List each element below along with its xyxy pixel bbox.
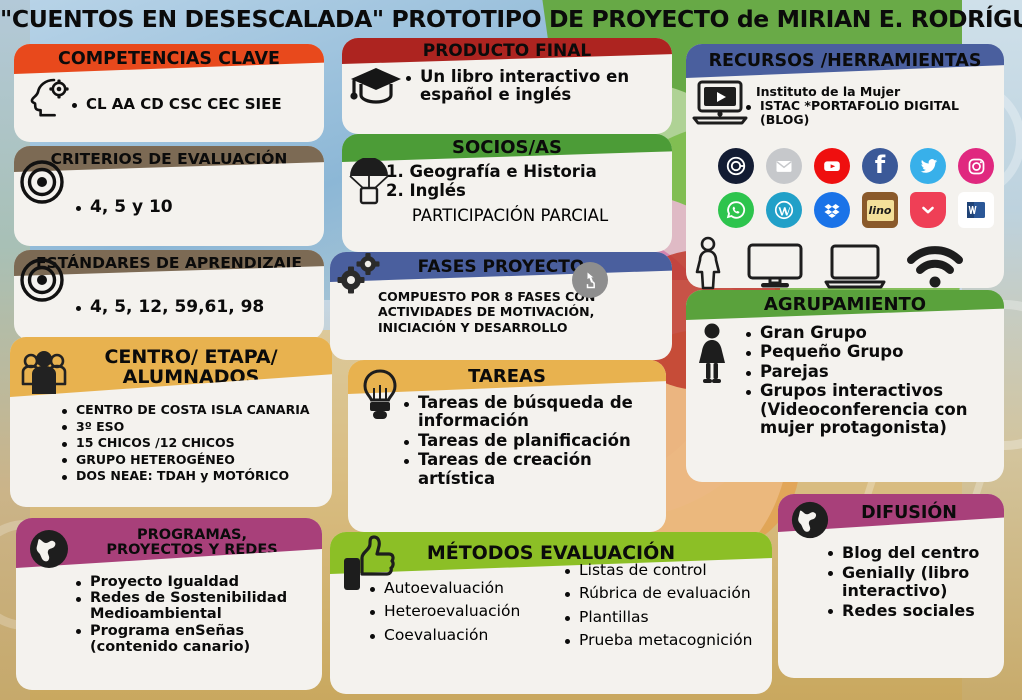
parachute-icon — [346, 158, 392, 208]
list-item: Tareas de planificación — [402, 432, 656, 450]
card-programas-body: Proyecto Igualdad Redes de Sostenibilida… — [16, 568, 322, 661]
card-programas-heading-line2: PROYECTOS Y REDES — [106, 543, 277, 558]
card-centro-heading-line2: ALUMNADOS — [123, 367, 260, 387]
monitor-icon — [746, 242, 804, 290]
list-item: Heteroevaluación — [368, 603, 563, 620]
list-item: 4, 5, 12, 59,61, 98 — [74, 298, 314, 317]
person-icon — [690, 236, 726, 290]
device-icon-row — [690, 236, 964, 290]
pocket-icon[interactable] — [910, 192, 946, 228]
head-gear-icon — [24, 72, 72, 120]
target-icon — [20, 160, 64, 204]
facebook-icon[interactable]: f — [862, 148, 898, 184]
social-icon-grid: f — [718, 148, 988, 236]
list-item: Listas de control — [563, 562, 772, 579]
list-item: Grupos interactivos (Videoconferencia co… — [744, 382, 994, 437]
laptop-icon — [824, 242, 886, 290]
target-icon — [20, 258, 64, 302]
list-item: DOS NEAE: TDAH y MOTÓRICO — [60, 469, 322, 483]
card-competencias-heading: COMPETENCIAS CLAVE — [14, 44, 324, 74]
metodos-column-right: Listas de control Rúbrica de evaluación … — [563, 562, 772, 655]
thumbs-up-icon — [340, 534, 396, 594]
list-item: GRUPO HETEROGÉNEO — [60, 453, 322, 467]
gears-icon — [336, 252, 386, 298]
people-group-icon — [18, 348, 70, 400]
graduation-cap-icon — [348, 62, 404, 110]
globe-icon — [790, 500, 830, 540]
social-icon-row-1: f — [718, 148, 988, 184]
card-agrupamiento: AGRUPAMIENTO Gran Grupo Pequeño Grupo Pa… — [686, 290, 1004, 482]
list-item: Un libro interactivo en español e inglés — [404, 68, 662, 105]
wordpress-icon[interactable] — [766, 192, 802, 228]
page-title: "CUENTOS EN DESESCALADA" PROTOTIPO DE PR… — [0, 5, 1022, 33]
globe-icon — [28, 528, 70, 570]
list-item: Gran Grupo — [744, 324, 994, 342]
list-item: ISTAC *PORTAFOLIO DIGITAL (BLOG) — [744, 99, 994, 127]
twitter-icon[interactable] — [910, 148, 946, 184]
card-centro-heading-line1: CENTRO/ ETAPA/ — [104, 347, 277, 367]
list-item: Pequeño Grupo — [744, 343, 994, 361]
youtube-icon[interactable] — [814, 148, 850, 184]
cursor-click-icon[interactable] — [572, 262, 608, 298]
list-item: 3º ESO — [60, 420, 322, 434]
laptop-video-icon — [692, 78, 748, 126]
list-item: Parejas — [744, 363, 994, 381]
card-producto-heading: PRODUCTO FINAL — [342, 38, 672, 64]
card-metodos-body: Autoevaluación Heteroevaluación Coevalua… — [330, 574, 772, 655]
list-item: Coevaluación — [368, 627, 563, 644]
woman-icon — [692, 322, 732, 384]
genially-icon[interactable] — [718, 148, 754, 184]
list-item: 15 CHICOS /12 CHICOS — [60, 436, 322, 450]
word-icon[interactable] — [958, 192, 994, 228]
list-item: Autoevaluación — [368, 580, 563, 597]
wifi-icon — [906, 244, 964, 290]
card-socios-note: PARTICIPACIÓN PARCIAL — [342, 206, 672, 225]
list-item: Prueba metacognición — [563, 632, 772, 649]
card-recursos-heading: RECURSOS /HERRAMIENTAS — [686, 44, 1004, 78]
list-item: Redes de Sostenibilidad Medioambiental — [74, 590, 312, 622]
social-icon-row-2: lino — [718, 192, 988, 228]
list-item: CL AA CD CSC CEC SIEE — [70, 96, 314, 113]
card-difusion-body: Blog del centro Genially (libro interact… — [778, 532, 1004, 628]
list-item: Proyecto Igualdad — [74, 574, 312, 590]
list-item: Plantillas — [563, 609, 772, 626]
card-centro-body: CENTRO DE COSTA ISLA CANARIA 3º ESO 15 C… — [10, 397, 332, 492]
email-icon[interactable] — [766, 148, 802, 184]
list-item: Tareas de creación artística — [402, 451, 656, 488]
dropbox-icon[interactable] — [814, 192, 850, 228]
recursos-institute: Instituto de la Mujer — [744, 84, 994, 99]
lightbulb-icon — [356, 368, 404, 422]
list-item: Tareas de búsqueda de información — [402, 394, 656, 431]
card-metodos-evaluacion: MÉTODOS EVALUACIÓN Autoevaluación Hetero… — [330, 532, 772, 694]
list-item: 4, 5 y 10 — [74, 198, 314, 217]
whatsapp-icon[interactable] — [718, 192, 754, 228]
lino-icon[interactable]: lino — [862, 192, 898, 228]
list-item: 1. Geografía e Historia — [386, 162, 662, 181]
list-item: Blog del centro — [826, 544, 994, 562]
list-item: Rúbrica de evaluación — [563, 585, 772, 602]
list-item: Programa enSeñas (contenido canario) — [74, 623, 312, 655]
list-item: Redes sociales — [826, 602, 994, 620]
instagram-icon[interactable] — [958, 148, 994, 184]
card-programas-heading-line1: PROGRAMAS, — [137, 528, 247, 543]
list-item: CENTRO DE COSTA ISLA CANARIA — [60, 403, 322, 417]
metodos-column-left: Autoevaluación Heteroevaluación Coevalua… — [368, 580, 563, 655]
list-item: Genially (libro interactivo) — [826, 564, 994, 600]
card-agrupamiento-heading: AGRUPAMIENTO — [686, 290, 1004, 320]
list-item: 2. Inglés — [386, 181, 662, 200]
card-agrupamiento-body: Gran Grupo Pequeño Grupo Parejas Grupos … — [686, 320, 1004, 445]
